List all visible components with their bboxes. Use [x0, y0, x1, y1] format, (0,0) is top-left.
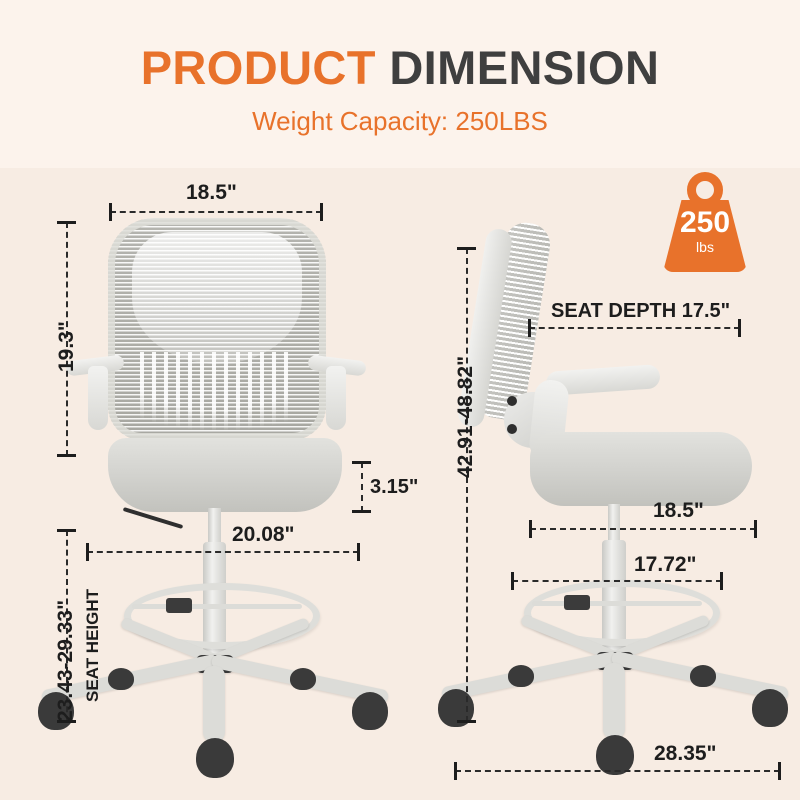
product-dimension-infographic: PRODUCT DIMENSION Weight Capacity: 250LB… [0, 0, 800, 800]
side-gas-cylinder-upper [608, 504, 620, 542]
front-armrest-left-post [88, 366, 108, 430]
side-hub-bolt-upper [507, 396, 517, 406]
side-base-leg-front [603, 663, 625, 739]
dimline-front-armrest-rise [361, 462, 363, 512]
dimcap-side-seat-width-left [529, 520, 532, 538]
dimcap-front-back-height-top [57, 221, 76, 224]
side-caster-right [752, 689, 788, 727]
front-gas-cylinder-upper [208, 508, 221, 544]
side-footring-spoke-right [610, 601, 702, 606]
dimlabel-side-base-width: 28.35" [654, 743, 717, 764]
dimcap-side-overall-height-bottom [457, 720, 476, 723]
dimcap-side-seat-depth-right [738, 319, 741, 337]
front-base-leg-front [203, 666, 225, 742]
dimline-side-overall-height [466, 248, 468, 722]
dimlabel-front-back-height: 19.3" [56, 321, 77, 372]
dimcap-side-seat-width-right [754, 520, 757, 538]
front-caster-back-left [108, 668, 134, 690]
dimlabel-front-footring: 20.08" [232, 524, 295, 545]
dimcap-front-back-width-right [320, 203, 323, 221]
dimcap-side-footring-left [511, 572, 514, 590]
front-seat-cushion [108, 438, 342, 512]
front-caster-center [196, 738, 234, 778]
front-footring-adjust-knob [166, 598, 192, 613]
dimcap-front-armrest-rise-top [352, 461, 371, 464]
dimcap-side-base-width-right [778, 762, 781, 780]
dimlabel-side-overall-height: 42.91-48.82" [455, 356, 476, 478]
dimlabel-front-seat-height: 23.43-29.33" [55, 600, 76, 722]
dimlabel-side-seat-width: 18.5" [653, 500, 704, 521]
dimline-side-seat-depth [529, 327, 740, 329]
side-seat-cushion [530, 432, 752, 506]
side-footring-adjust-knob [564, 595, 590, 610]
front-backrest-upper-panel [132, 232, 302, 364]
dimlabel-front-back-width: 18.5" [186, 182, 237, 203]
dimcap-front-back-width-left [109, 203, 112, 221]
dimline-side-base-width [455, 770, 780, 772]
dimline-side-footring [512, 580, 722, 582]
dimcap-side-base-width-left [454, 762, 457, 780]
dimcap-front-armrest-rise-bottom [352, 510, 371, 513]
front-caster-right [352, 692, 388, 730]
dimcap-front-footring-right [357, 543, 360, 561]
dimcap-front-footring-left [86, 543, 89, 561]
dimcap-side-seat-depth-left [528, 319, 531, 337]
front-lumbar-perforation [140, 352, 296, 430]
side-caster-back-right [690, 665, 716, 687]
dimline-front-footring [87, 551, 359, 553]
side-caster-center [596, 735, 634, 775]
dimlabel-front-armrest-rise: 3.15" [370, 477, 418, 497]
side-caster-back-left [508, 665, 534, 687]
dimlabel-front-seat-height-caption: SEAT HEIGHT [84, 589, 101, 702]
dimline-front-back-width [110, 211, 322, 213]
dimlabel-side-seat-depth: SEAT DEPTH 17.5" [551, 301, 730, 321]
front-footring-spoke-right [210, 604, 302, 609]
dimcap-front-seat-height-top [57, 529, 76, 532]
dimcap-side-footring-right [720, 572, 723, 590]
side-hub-bolt-lower [507, 424, 517, 434]
front-armrest-right-post [326, 366, 346, 430]
dimline-side-seat-width [530, 528, 756, 530]
dimcap-front-back-height-bottom [57, 454, 76, 457]
front-caster-back-right [290, 668, 316, 690]
dimlabel-side-footring: 17.72" [634, 554, 697, 575]
dimcap-side-overall-height-top [457, 247, 476, 250]
